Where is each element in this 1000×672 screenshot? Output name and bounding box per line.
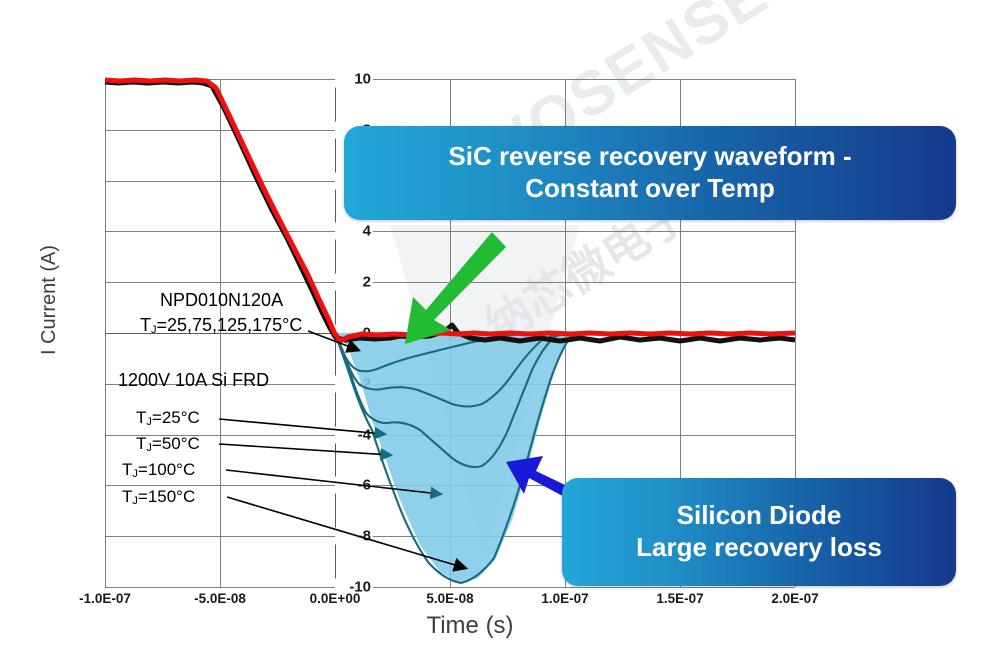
callout-sic-reverse-recovery[interactable]: SiC reverse recovery waveform - Constant… (344, 126, 956, 220)
callout-silicon-diode[interactable]: Silicon Diode Large recovery loss (562, 478, 956, 586)
temp-label-50c: TJ=50°C (136, 434, 200, 454)
slide-canvas: NOVOSENSE 纳芯微电子 10 8 6 4 2 0 -2 -4 -6 -8 (0, 0, 1000, 672)
tj-prefix: T (136, 434, 146, 453)
tj-prefix: T (122, 460, 132, 479)
callout-sic-line1: SiC reverse recovery waveform - (448, 141, 851, 173)
tj-value: =25°C (152, 408, 200, 427)
device-temp-label-sic: TJ=25,75,125,175°C (140, 315, 302, 336)
tj-prefix: T (140, 315, 151, 335)
callout-si-line1: Silicon Diode (636, 500, 882, 532)
callout-si-text: Silicon Diode Large recovery loss (636, 500, 882, 563)
callout-sic-line2: Constant over Temp (448, 173, 851, 205)
tj-value: =100°C (138, 460, 195, 479)
callout-sic-text: SiC reverse recovery waveform - Constant… (448, 141, 851, 204)
tj-prefix: T (122, 487, 132, 506)
tj-prefix: T (136, 408, 146, 427)
tj-value: =150°C (138, 487, 195, 506)
y-axis-title: I Current (A) (38, 245, 61, 355)
green-arrow-icon (405, 232, 506, 344)
device-label-sic: NPD010N120A (160, 290, 283, 311)
x-axis-title: Time (s) (426, 612, 513, 640)
device-label-si: 1200V 10A Si FRD (118, 370, 269, 391)
callout-si-line2: Large recovery loss (636, 532, 882, 564)
temp-label-150c: TJ=150°C (122, 487, 195, 507)
tj-values: =25,75,125,175°C (157, 315, 303, 335)
temp-label-25c: TJ=25°C (136, 408, 200, 428)
temp-label-100c: TJ=100°C (122, 460, 195, 480)
tj-value: =50°C (152, 434, 200, 453)
